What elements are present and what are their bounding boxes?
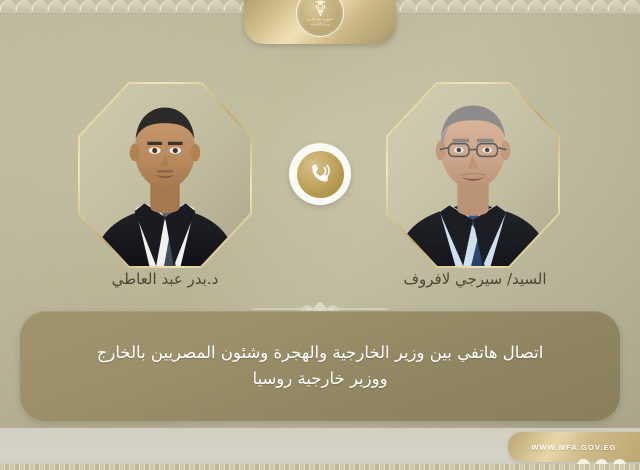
- website-url-tab[interactable]: WWW.MFA.GOV.EG: [508, 432, 640, 462]
- phone-call-disc: [297, 151, 344, 198]
- phone-call-icon: [307, 161, 333, 187]
- footer-dotted-strip: [0, 464, 640, 470]
- egypt-eagle-emblem-icon: جمهورية مصر العربية وزارة الخارجية: [296, 0, 344, 37]
- portrait-photo-left: [80, 84, 250, 266]
- emblem-subcaption: وزارة الخارجية: [311, 23, 329, 27]
- octagon-inner: [80, 84, 250, 266]
- portrait-frame-right: [386, 82, 560, 268]
- website-url-text: WWW.MFA.GOV.EG: [531, 443, 616, 452]
- announcement-banner: اتصال هاتفي بين وزير الخارجية والهجرة وش…: [20, 311, 620, 421]
- caption-right: السيد/ سيرجي لافروف: [325, 270, 625, 288]
- portrait-photo-right: [388, 84, 558, 266]
- emblem-caption: جمهورية مصر العربية: [307, 18, 333, 22]
- portrait-frame-left: [78, 82, 252, 268]
- announcement-text: اتصال هاتفي بين وزير الخارجية والهجرة وش…: [63, 340, 578, 393]
- caption-left: د.بدر عبد العاطي: [15, 270, 315, 288]
- announcement-line-2: ووزير خارجية روسيا: [97, 366, 544, 392]
- announcement-card: جمهورية مصر العربية وزارة الخارجية: [0, 0, 640, 470]
- footer-band: WWW.MFA.GOV.EG: [0, 428, 640, 470]
- octagon-inner: [388, 84, 558, 266]
- phone-call-badge: [289, 143, 351, 205]
- announcement-line-1: اتصال هاتفي بين وزير الخارجية والهجرة وش…: [97, 343, 544, 362]
- emblem-tab: جمهورية مصر العربية وزارة الخارجية: [244, 0, 396, 44]
